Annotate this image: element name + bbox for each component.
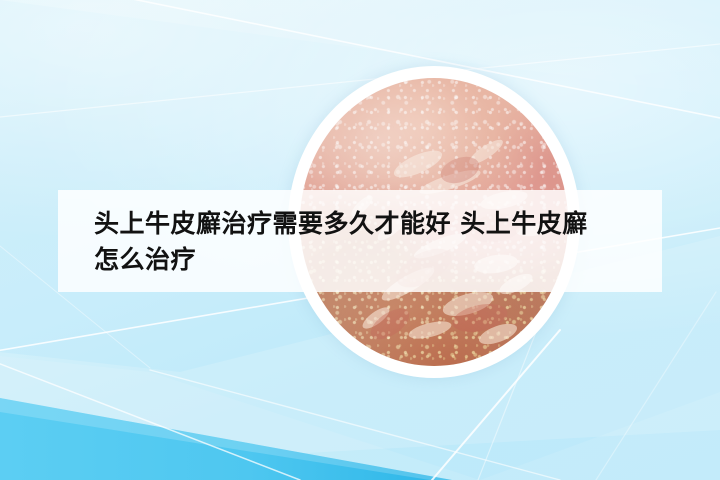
page-title: 头上牛皮廯治疗需要多久才能好 头上牛皮廯 怎么治疗: [94, 206, 662, 278]
thumbnail-image: 头上牛皮廯治疗需要多久才能好 头上牛皮廯 怎么治疗: [0, 0, 720, 480]
title-overlay-band: 头上牛皮廯治疗需要多久才能好 头上牛皮廯 怎么治疗: [58, 190, 662, 292]
